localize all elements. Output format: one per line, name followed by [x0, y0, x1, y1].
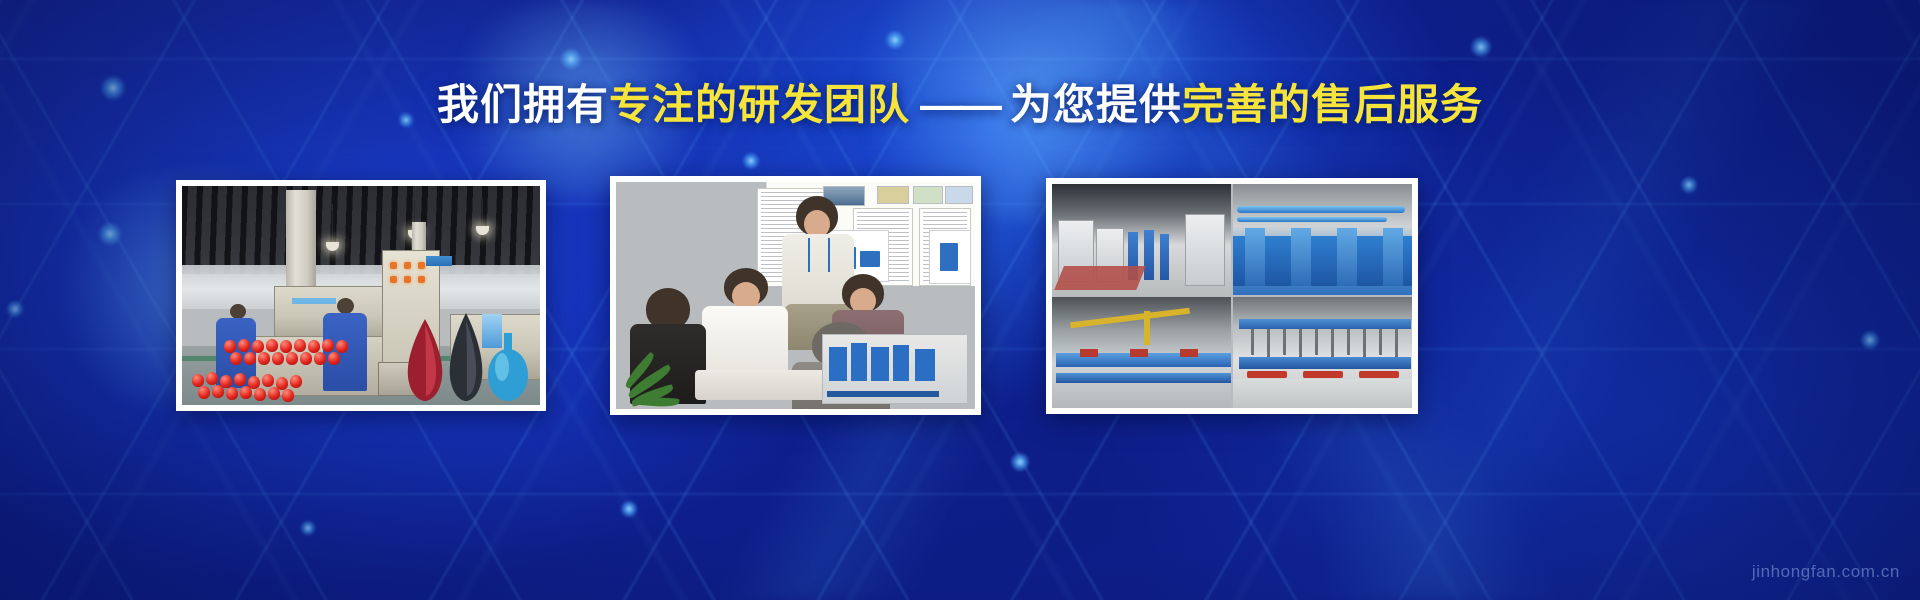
headline: 我们拥有专注的研发团队——为您提供完善的售后服务	[0, 82, 1920, 128]
potted-plant	[623, 355, 695, 409]
photo-thumbnail	[877, 186, 909, 204]
photo-image-factory	[182, 186, 540, 405]
lamp-wire	[482, 198, 483, 226]
glass-vase-red	[404, 317, 446, 403]
photo-frame-production-line[interactable]	[1046, 178, 1418, 414]
collage-cell-workshop	[1052, 184, 1231, 295]
equipment-diagram	[929, 230, 971, 284]
collage-cell-blue-tunnel	[1233, 184, 1412, 295]
headline-segment-1: 我们拥有	[437, 81, 609, 128]
lamp-wire	[332, 204, 333, 242]
indicator-light-icon	[390, 262, 397, 269]
worker-head	[337, 298, 354, 314]
glass-vase-blue	[486, 331, 530, 403]
photo-frame-factory[interactable]	[176, 180, 546, 411]
signage-panel	[426, 256, 452, 266]
photo-image-meeting	[616, 182, 975, 409]
collage-cell-conveyor	[1052, 297, 1231, 408]
collage-cell-hanging-line	[1233, 297, 1412, 408]
equipment-photo-inset	[822, 334, 968, 404]
photo-image-production-collage	[1052, 184, 1412, 408]
photo-thumbnail	[913, 186, 943, 204]
photo-frame-meeting[interactable]	[610, 176, 981, 415]
headline-segment-3: 为您提供	[1010, 81, 1182, 128]
headline-dash: ——	[910, 82, 1010, 128]
photo-gallery	[0, 180, 1920, 416]
indicator-light-icon	[390, 276, 397, 283]
headline-segment-2: 专注的研发团队	[609, 81, 910, 128]
headline-segment-4: 完善的售后服务	[1182, 81, 1483, 128]
photo-thumbnail	[945, 186, 973, 204]
red-bulb-pile	[192, 372, 322, 405]
worker-head	[230, 304, 246, 319]
indicator-light-icon	[418, 276, 425, 283]
indicator-light-icon	[404, 262, 411, 269]
glass-vase-dark	[446, 311, 486, 403]
indicator-light-icon	[418, 262, 425, 269]
indicator-light-icon	[404, 276, 411, 283]
promo-banner: 我们拥有专注的研发团队——为您提供完善的售后服务	[0, 0, 1920, 600]
signage-panel	[292, 298, 336, 304]
site-watermark: jinhongfan.com.cn	[1752, 562, 1900, 582]
